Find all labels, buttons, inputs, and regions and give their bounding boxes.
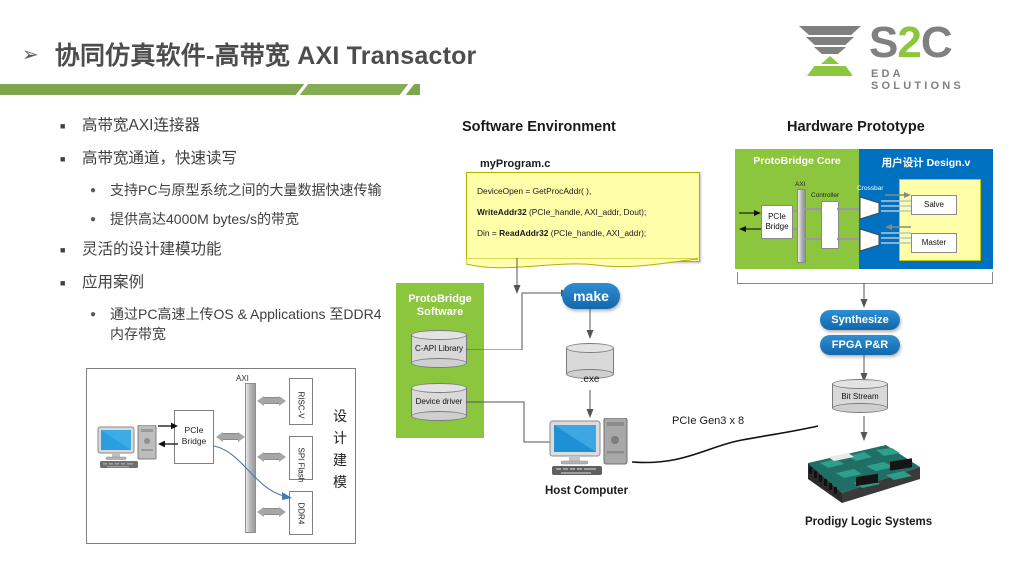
sub-bullet-marker-icon: ●	[90, 304, 110, 344]
title-text: 协同仿真软件-高带宽 AXI Transactor	[55, 36, 477, 72]
s2c-logo: S2C EDA SOLUTIONS	[799, 18, 999, 84]
bullet-list: ■ 高带宽AXI连接器 ■ 高带宽通道，快速读写 ● 支持PC与原型系统之间的大…	[60, 114, 390, 351]
capi-to-make-connector	[466, 288, 576, 350]
device-driver-label: Device driver	[411, 397, 467, 407]
logo-letter-c: C	[921, 18, 952, 67]
peripheral-block-riscv: RISC-V	[289, 378, 313, 425]
pc-to-bridge-arrows	[158, 418, 178, 456]
make-step-button[interactable]: make	[562, 283, 620, 309]
exe-to-host-arrow	[583, 390, 599, 420]
logo-letter-s: S	[869, 18, 897, 67]
sub-bullet-item: ● 提供高达4000M bytes/s的带宽	[90, 209, 390, 231]
logo-letter-2: 2	[897, 18, 920, 67]
bullet-text: 应用案例	[82, 271, 144, 295]
code-text: Din =	[477, 228, 499, 238]
design-modeling-vertical-caption: 设计建模	[330, 405, 350, 493]
bullet-marker-icon: ■	[60, 147, 82, 171]
title-arrow-icon: ➢	[22, 45, 39, 65]
bitstream-cylinder: Bit Stream	[832, 379, 888, 413]
sub-bullet-marker-icon: ●	[90, 209, 110, 231]
code-line: DeviceOpen = GetProcAddr( ),	[477, 173, 699, 197]
sub-bullet-item: ● 支持PC与原型系统之间的大量数据快速传输	[90, 180, 390, 202]
code-text: (PCIe_handle, AXI_addr, Dout);	[527, 207, 647, 217]
sub-bullet-text: 通过PC高速上传OS & Applications 至DDR4内存带宽	[110, 304, 390, 344]
peripheral-label: RISC-V	[297, 392, 306, 414]
bitstream-label: Bit Stream	[832, 392, 888, 402]
code-text: (PCIe_handle, AXI_addr);	[548, 228, 646, 238]
bracket-to-synthesize-arrow	[855, 283, 873, 309]
bullet-text: 高带宽AXI连接器	[82, 114, 200, 138]
sub-bullet-text: 提供高达4000M bytes/s的带宽	[110, 209, 299, 231]
code-fn-read: ReadAddr32	[499, 228, 548, 238]
host-computer-caption: Host Computer	[545, 485, 628, 497]
title-underline-stripe	[0, 84, 420, 95]
fpga-pnr-step-button[interactable]: FPGA P&R	[820, 335, 900, 355]
software-environment-title: Software Environment	[462, 119, 616, 135]
device-driver-cylinder: Device driver	[411, 383, 467, 423]
code-fn-write: WriteAddr32	[477, 207, 527, 217]
hw-internal-wiring	[735, 149, 993, 269]
bullet-text: 高带宽通道，快速读写	[82, 147, 237, 171]
page-title: ➢ 协同仿真软件-高带宽 AXI Transactor	[22, 36, 477, 72]
hardware-prototype-title: Hardware Prototype	[787, 119, 925, 135]
bridge-axi-arrow	[216, 431, 245, 442]
prodigy-system-caption: Prodigy Logic Systems	[805, 516, 932, 528]
logo-subtitle: EDA SOLUTIONS	[871, 68, 999, 92]
bullet-item: ■ 高带宽AXI连接器	[60, 114, 390, 138]
myprogram-file-label: myProgram.c	[480, 158, 550, 170]
bullet-marker-icon: ■	[60, 271, 82, 295]
slide-root: ➢ 协同仿真软件-高带宽 AXI Transactor S2C EDA SOLU…	[0, 0, 1021, 574]
c-api-library-label: C-API Library	[411, 344, 467, 354]
synthesize-step-button[interactable]: Synthesize	[820, 310, 900, 330]
code-text: DeviceOpen = GetProcAddr( ),	[477, 186, 591, 196]
bullet-item: ■ 高带宽通道，快速读写	[60, 147, 390, 171]
exe-label: .exe	[566, 374, 614, 385]
fpga-board-icon	[800, 437, 924, 505]
code-line: WriteAddr32 (PCIe_handle, AXI_addr, Dout…	[477, 206, 699, 218]
peripheral-label: DDR4	[297, 503, 306, 525]
s2c-logo-mark-icon	[799, 24, 861, 78]
desktop-computer-icon	[97, 425, 159, 471]
bullet-marker-icon: ■	[60, 238, 82, 262]
code-line: Din = ReadAddr32 (PCIe_handle, AXI_addr)…	[477, 227, 699, 239]
peripheral-label: SPI Flash	[297, 448, 306, 470]
sub-bullet-text: 支持PC与原型系统之间的大量数据快速传输	[110, 180, 381, 202]
bullet-marker-icon: ■	[60, 114, 82, 138]
axi-riscv-arrow	[257, 395, 286, 406]
sub-bullet-item: ● 通过PC高速上传OS & Applications 至DDR4内存带宽	[90, 304, 390, 344]
bridge-to-ddr4-curve	[212, 442, 294, 510]
axi-bus-label: AXI	[236, 374, 249, 383]
pcie-cable-link	[630, 424, 820, 486]
s2c-logo-text: S2C	[869, 18, 952, 68]
code-snippet-note: DeviceOpen = GetProcAddr( ), WriteAddr32…	[466, 172, 700, 262]
sub-bullet-marker-icon: ●	[90, 180, 110, 202]
hardware-prototype-diagram: ProtoBridge Core 用户设计 Design.v PCIe Brid…	[735, 149, 993, 269]
c-api-library-cylinder: C-API Library	[411, 330, 467, 370]
make-to-exe-arrow	[583, 309, 599, 341]
host-computer-icon	[548, 418, 632, 480]
bullet-item: ■ 应用案例	[60, 271, 390, 295]
bullet-item: ■ 灵活的设计建模功能	[60, 238, 390, 262]
bullet-text: 灵活的设计建模功能	[82, 238, 222, 262]
pcie-link-label: PCIe Gen3 x 8	[672, 415, 744, 427]
pcie-bridge-block: PCIe Bridge	[174, 410, 214, 464]
